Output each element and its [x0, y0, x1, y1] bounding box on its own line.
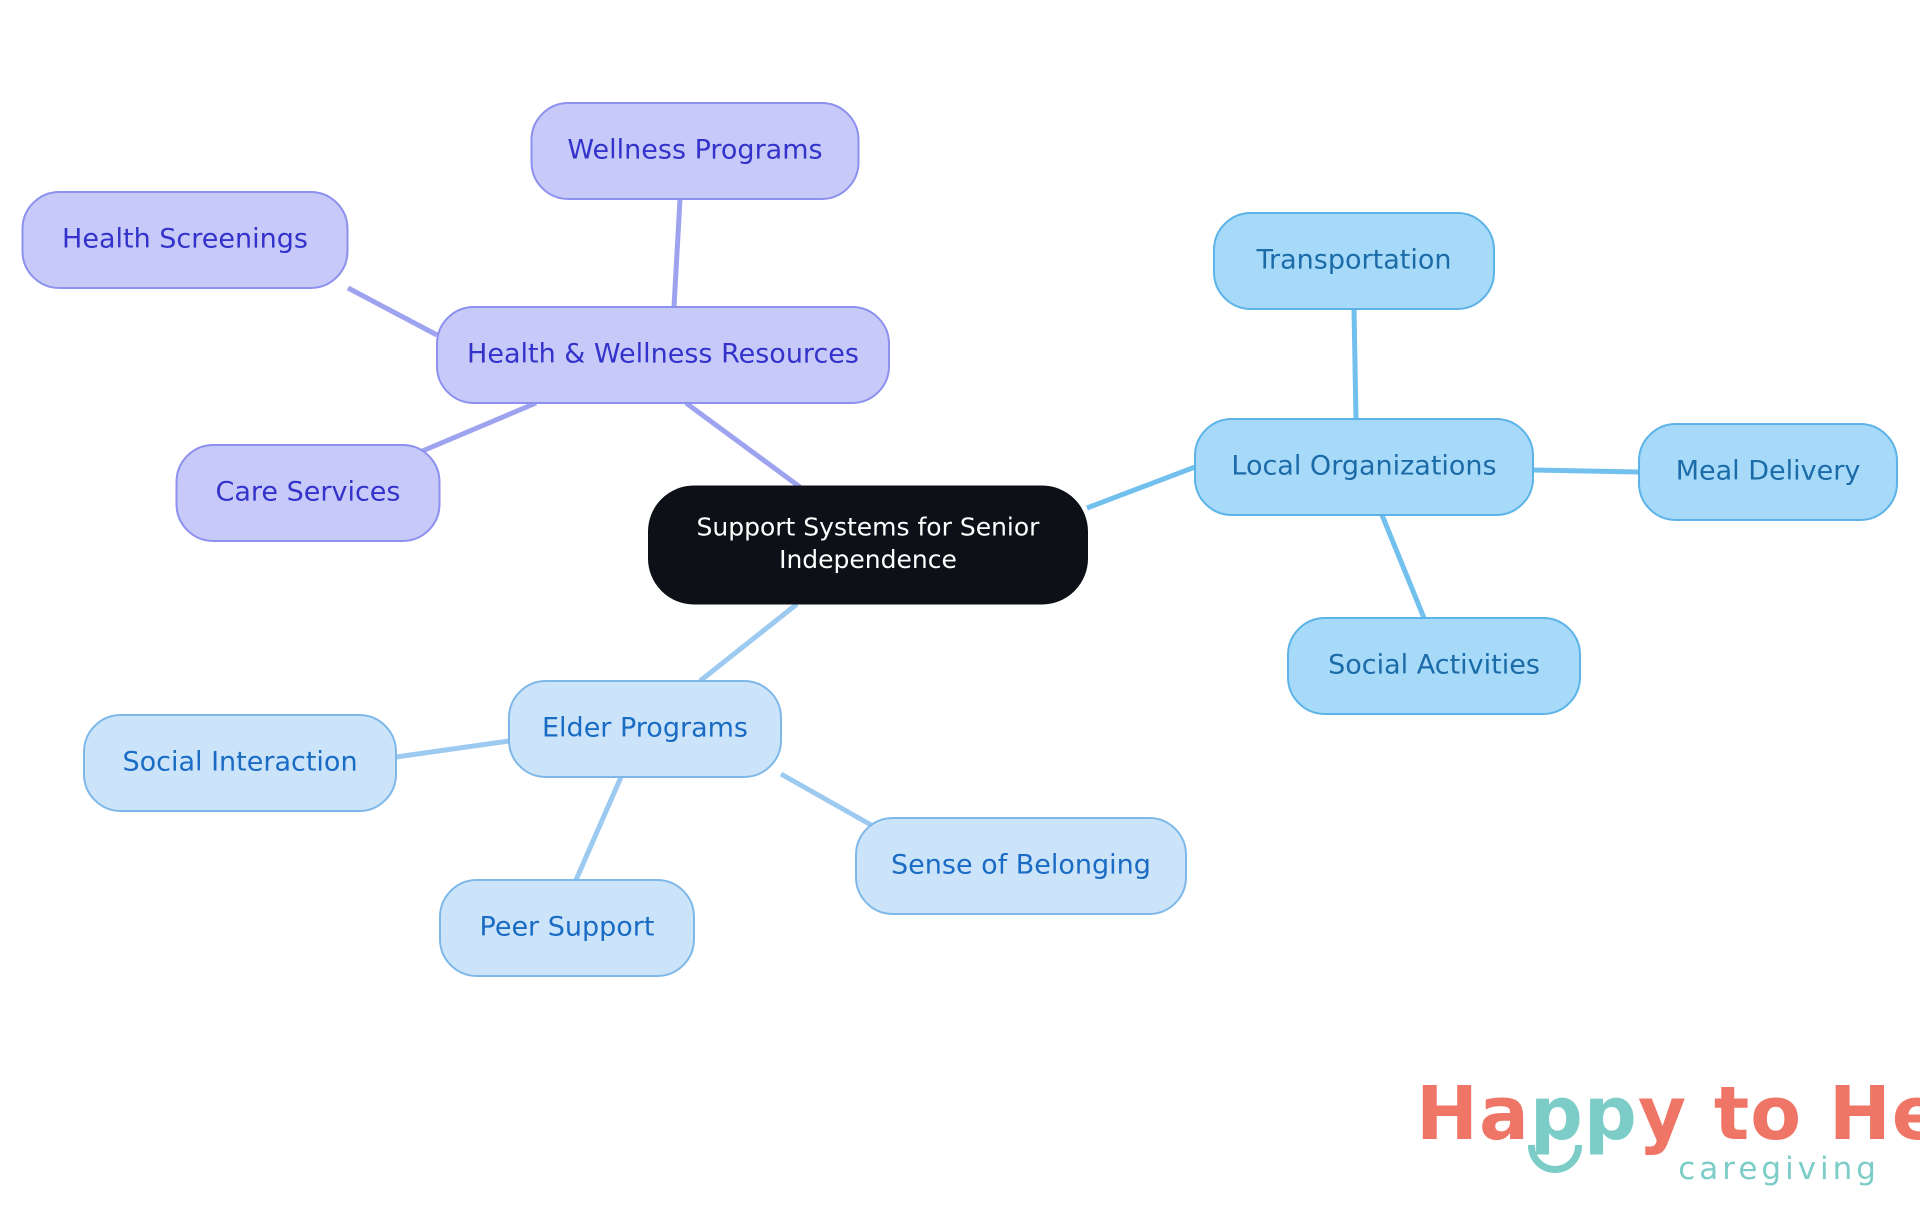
node-meal-delivery[interactable]: Meal Delivery: [1639, 424, 1897, 520]
node-label-line: Independence: [779, 545, 957, 574]
logo-word-to: [1687, 1071, 1714, 1157]
logo-space-2: [1802, 1071, 1829, 1157]
node-label-health-wellness-resources: Health & Wellness Resources: [467, 339, 859, 370]
edge-health-wellness-resources-to-care-services: [420, 403, 536, 452]
edge-local-organizations-to-social-activities: [1382, 515, 1424, 618]
edge-local-organizations-to-meal-delivery: [1533, 470, 1639, 472]
node-social-interaction[interactable]: Social Interaction: [84, 715, 396, 811]
node-label-social-activities: Social Activities: [1328, 650, 1540, 681]
node-root[interactable]: Support Systems for SeniorIndependence: [649, 487, 1087, 604]
edge-elder-programs-to-social-interaction: [396, 741, 509, 757]
edge-root-to-health-wellness-resources: [686, 403, 800, 487]
logo-tagline: caregiving: [1678, 1151, 1880, 1187]
edge-elder-programs-to-sense-of-belonging: [781, 774, 880, 830]
edge-root-to-elder-programs: [700, 604, 797, 681]
node-label-elder-programs: Elder Programs: [542, 713, 748, 744]
node-sense-of-belonging[interactable]: Sense of Belonging: [856, 818, 1186, 914]
node-label-social-interaction: Social Interaction: [122, 747, 357, 778]
node-label-wellness-programs: Wellness Programs: [567, 135, 822, 166]
edge-local-organizations-to-transportation: [1354, 309, 1356, 419]
node-health-screenings[interactable]: Health Screenings: [23, 192, 348, 288]
node-elder-programs[interactable]: Elder Programs: [509, 681, 781, 777]
node-peer-support[interactable]: Peer Support: [440, 880, 694, 976]
node-social-activities[interactable]: Social Activities: [1288, 618, 1580, 714]
node-label-sense-of-belonging: Sense of Belonging: [891, 850, 1151, 881]
smile-icon: [1528, 1145, 1582, 1173]
node-local-organizations[interactable]: Local Organizations: [1195, 419, 1533, 515]
logo-wordmark: Happy to Help: [1416, 1077, 1920, 1151]
node-label-transportation: Transportation: [1256, 245, 1452, 276]
node-label-local-organizations: Local Organizations: [1231, 451, 1496, 482]
logo-letter-a: a: [1479, 1071, 1530, 1157]
logo-letter-h: H: [1416, 1071, 1479, 1157]
mindmap-canvas: Health ScreeningsWellness ProgramsCare S…: [0, 0, 1920, 1215]
node-label-care-services: Care Services: [216, 477, 401, 508]
edge-elder-programs-to-peer-support: [576, 777, 621, 880]
node-label-health-screenings: Health Screenings: [62, 224, 308, 255]
brand-logo: Happy to Help caregiving: [1416, 1077, 1886, 1197]
node-wellness-programs[interactable]: Wellness Programs: [532, 103, 859, 199]
edge-health-wellness-resources-to-wellness-programs: [674, 199, 680, 307]
node-care-services[interactable]: Care Services: [177, 445, 440, 541]
nodes-layer: Health ScreeningsWellness ProgramsCare S…: [23, 103, 1898, 976]
logo-word-to-text: to: [1714, 1071, 1802, 1157]
logo-word-help: Help: [1829, 1071, 1920, 1157]
node-label-line: Support Systems for Senior: [697, 513, 1041, 542]
edge-health-wellness-resources-to-health-screenings: [348, 288, 437, 335]
node-health-wellness-resources[interactable]: Health & Wellness Resources: [437, 307, 889, 403]
node-label-meal-delivery: Meal Delivery: [1676, 456, 1861, 487]
edge-root-to-local-organizations: [1087, 467, 1195, 508]
node-transportation[interactable]: Transportation: [1214, 213, 1494, 309]
node-label-peer-support: Peer Support: [480, 912, 655, 943]
logo-letter-y: y: [1638, 1071, 1687, 1157]
